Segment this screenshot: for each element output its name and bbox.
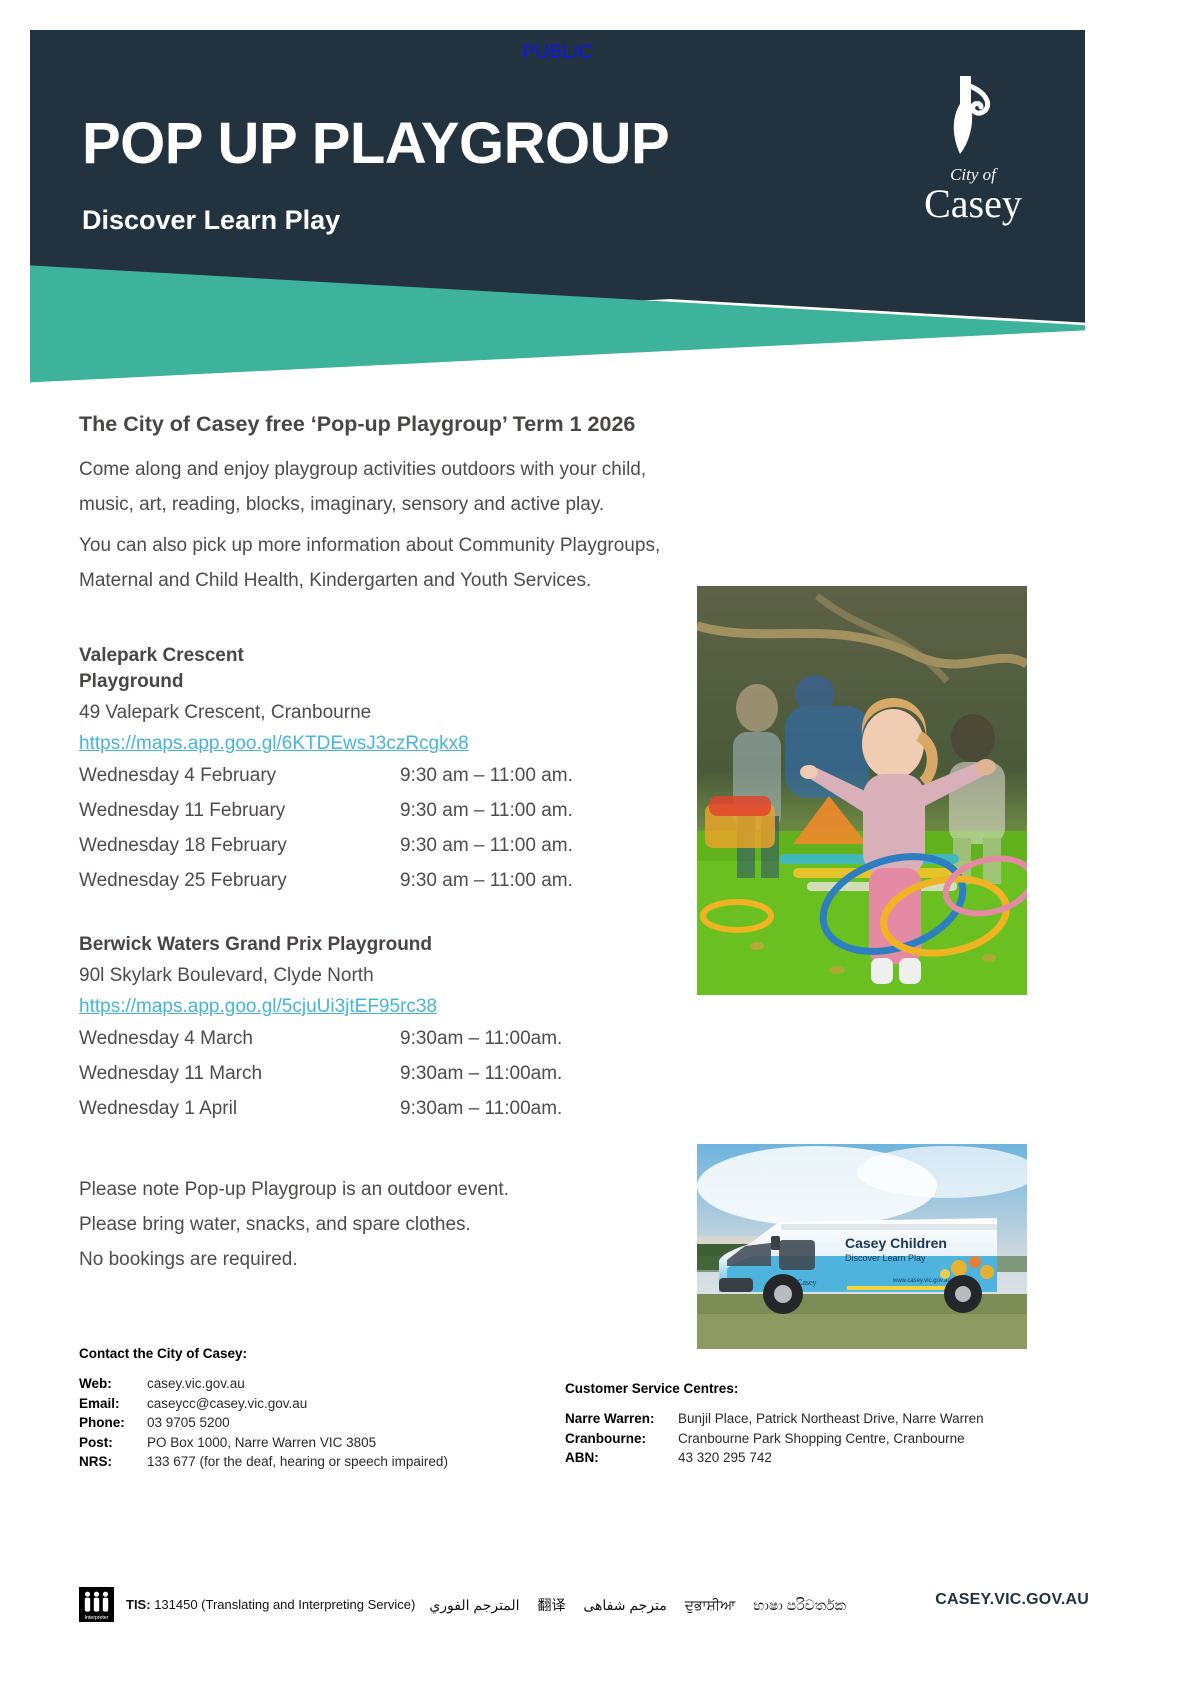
service-centre-row: ABN: 43 320 295 742 [565, 1448, 1085, 1468]
session-row: Wednesday 11 February 9:30 am – 11:00 am… [79, 793, 679, 828]
session-time: 9:30 am – 11:00 am. [400, 758, 679, 793]
intro-paragraph-1: Come along and enjoy playgroup activitie… [79, 452, 679, 522]
contact-value: 133 677 (for the deaf, hearing or speech… [147, 1452, 569, 1472]
session-time: 9:30 am – 11:00 am. [400, 828, 679, 863]
service-centre-row: Narre Warren: Bunjil Place, Patrick Nort… [565, 1409, 1085, 1429]
session-time: 9:30am – 11:00am. [400, 1091, 679, 1126]
poster-title: POP UP PLAYGROUP [82, 115, 669, 173]
classification-label: PUBLIC [30, 42, 1085, 64]
contact-row: Phone: 03 9705 5200 [79, 1413, 569, 1433]
contact-row: Post: PO Box 1000, Narre Warren VIC 3805 [79, 1433, 569, 1453]
interpreter-figures-icon [79, 1591, 114, 1613]
main-content: The City of Casey free ‘Pop-up Playgroup… [79, 412, 679, 1277]
casey-children-van-photo: Casey Children Discover Learn Play www.c… [697, 1144, 1027, 1349]
session-time: 9:30 am – 11:00 am. [400, 863, 679, 898]
contact-key: Phone: [79, 1413, 147, 1433]
casey-emblem-icon [913, 72, 1033, 164]
contact-row: Email: caseycc@casey.vic.gov.au [79, 1394, 569, 1414]
contact-key: Post: [79, 1433, 147, 1453]
contact-key: Web: [79, 1374, 147, 1394]
location-valepark: Valepark Crescent Playground 49 Valepark… [79, 643, 679, 898]
session-row: Wednesday 18 February 9:30 am – 11:00 am… [79, 828, 679, 863]
service-centre-row: Cranbourne: Cranbourne Park Shopping Cen… [565, 1429, 1085, 1449]
location-map-link[interactable]: https://maps.app.goo.gl/5cjuUi3jtEF95rc3… [79, 993, 437, 1021]
event-notes: Please note Pop-up Playgroup is an outdo… [79, 1172, 679, 1277]
tis-language-chinese: 翻译 [537, 1597, 565, 1613]
logo-casey-text: Casey [913, 184, 1033, 224]
contact-key: Email: [79, 1394, 147, 1414]
tis-language-arabic: المترجم الفوري [429, 1597, 519, 1613]
service-centre-value: Bunjil Place, Patrick Northeast Drive, N… [678, 1409, 1085, 1429]
contact-heading: Contact the City of Casey: [79, 1346, 569, 1361]
event-note: Please note Pop-up Playgroup is an outdo… [79, 1172, 679, 1207]
service-centre-key: ABN: [565, 1448, 678, 1468]
contact-value: casey.vic.gov.au [147, 1374, 569, 1394]
contact-value: 03 9705 5200 [147, 1413, 569, 1433]
page-title: The City of Casey free ‘Pop-up Playgroup… [79, 412, 679, 437]
location-address: 49 Valepark Crescent, Cranbourne [79, 695, 679, 730]
interpreter-icon-label: Interpreter [79, 1615, 114, 1621]
location-name-line2: Playground [79, 669, 679, 695]
contact-key: NRS: [79, 1452, 147, 1472]
session-time: 9:30am – 11:00am. [400, 1056, 679, 1091]
event-note: Please bring water, snacks, and spare cl… [79, 1207, 679, 1242]
service-centre-value: Cranbourne Park Shopping Centre, Cranbou… [678, 1429, 1085, 1449]
tis-language-punjabi: ਦੁਭਾਸ਼ੀਆ [685, 1597, 736, 1613]
event-note: No bookings are required. [79, 1242, 679, 1277]
contact-value: PO Box 1000, Narre Warren VIC 3805 [147, 1433, 569, 1453]
tis-language-sinhala: භාෂා පරිවර්තක [753, 1597, 846, 1613]
session-row: Wednesday 1 April 9:30am – 11:00am. [79, 1091, 679, 1126]
translating-service-bar: Interpreter TIS: 131450 (Translating and… [79, 1587, 1089, 1622]
header-wedge-graphic [30, 255, 1085, 385]
customer-service-centres-block: Customer Service Centres: Narre Warren: … [565, 1381, 1085, 1468]
poster-subtitle: Discover Learn Play [82, 205, 340, 236]
svg-text:Discover Learn Play: Discover Learn Play [845, 1253, 926, 1263]
svg-text:www.casey.vic.gov.au: www.casey.vic.gov.au [892, 1278, 951, 1284]
service-centre-value: 43 320 295 742 [678, 1448, 1085, 1468]
poster-page: PUBLIC POP UP PLAYGROUP Discover Learn P… [0, 0, 1190, 1684]
session-row: Wednesday 25 February 9:30 am – 11:00 am… [79, 863, 679, 898]
session-day: Wednesday 11 March [79, 1056, 400, 1091]
session-day: Wednesday 1 April [79, 1091, 400, 1126]
session-row: Wednesday 4 March 9:30am – 11:00am. [79, 1021, 679, 1056]
contact-block: Contact the City of Casey: Web: casey.vi… [79, 1346, 569, 1472]
intro-paragraph-2: You can also pick up more information ab… [79, 528, 679, 598]
tis-label: TIS: [126, 1597, 151, 1612]
session-day: Wednesday 18 February [79, 828, 400, 863]
session-time: 9:30 am – 11:00 am. [400, 793, 679, 828]
location-address: 90l Skylark Boulevard, Clyde North [79, 958, 679, 993]
session-time: 9:30am – 11:00am. [400, 1021, 679, 1056]
tis-languages: المترجم الفوري 翻译 مترجم شفاهی ਦੁਭਾਸ਼ੀਆ භ… [429, 1595, 860, 1615]
contact-row: NRS: 133 677 (for the deaf, hearing or s… [79, 1452, 569, 1472]
service-centres-heading: Customer Service Centres: [565, 1381, 1085, 1396]
session-day: Wednesday 11 February [79, 793, 400, 828]
service-centre-key: Narre Warren: [565, 1409, 678, 1429]
service-centre-key: Cranbourne: [565, 1429, 678, 1449]
session-day: Wednesday 25 February [79, 863, 400, 898]
svg-text:Casey Children: Casey Children [845, 1235, 947, 1251]
tis-language-persian: مترجم شفاهی [583, 1597, 666, 1613]
location-name-line1: Valepark Crescent [79, 643, 679, 669]
session-row: Wednesday 11 March 9:30am – 11:00am. [79, 1056, 679, 1091]
hula-hoop-photo [697, 586, 1027, 995]
contact-value: caseycc@casey.vic.gov.au [147, 1394, 569, 1414]
website-url[interactable]: CASEY.VIC.GOV.AU [935, 1591, 1089, 1609]
session-day: Wednesday 4 February [79, 758, 400, 793]
tis-number-text: 131450 (Translating and Interpreting Ser… [154, 1597, 415, 1612]
location-name-line1: Berwick Waters Grand Prix Playground [79, 932, 679, 958]
location-map-link[interactable]: https://maps.app.goo.gl/6KTDEwsJ3czRcgkx… [79, 730, 469, 758]
tis-text: TIS: 131450 (Translating and Interpretin… [126, 1597, 415, 1612]
interpreter-icon: Interpreter [79, 1587, 114, 1622]
session-row: Wednesday 4 February 9:30 am – 11:00 am. [79, 758, 679, 793]
city-of-casey-logo: City of Casey [913, 72, 1033, 232]
contact-row: Web: casey.vic.gov.au [79, 1374, 569, 1394]
location-berwick-waters: Berwick Waters Grand Prix Playground 90l… [79, 932, 679, 1126]
session-day: Wednesday 4 March [79, 1021, 400, 1056]
